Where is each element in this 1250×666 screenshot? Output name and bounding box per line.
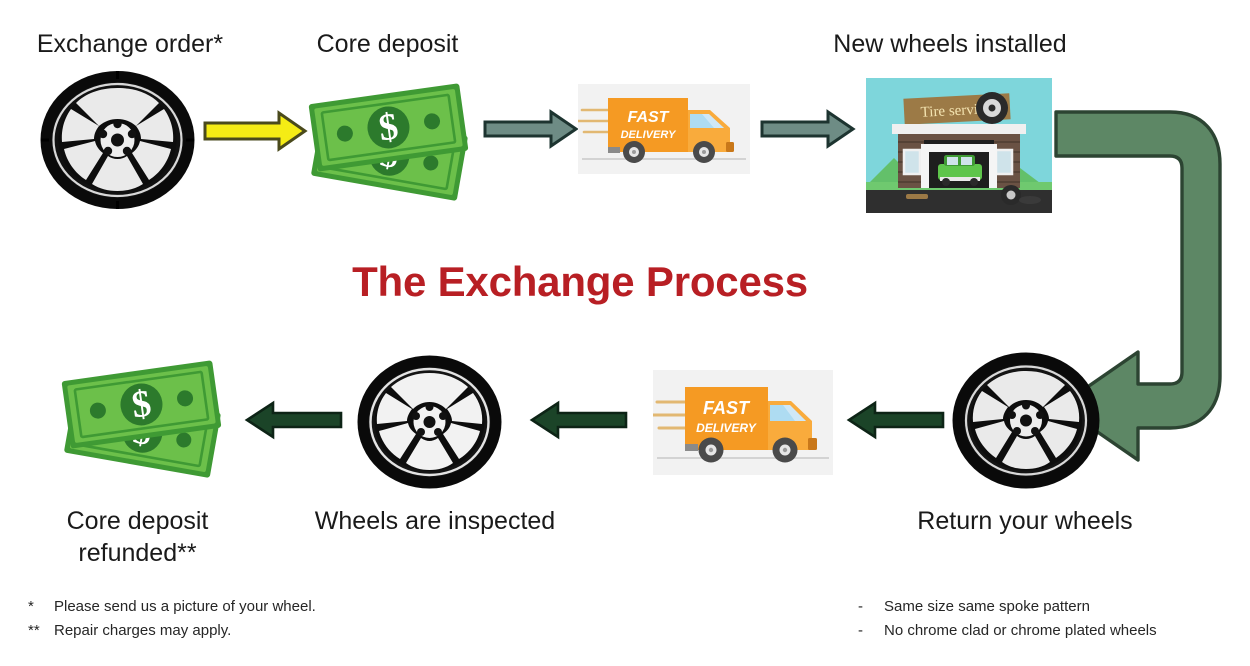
footnotes-left: * Please send us a picture of your wheel… <box>28 595 316 644</box>
wheel-icon-exchange-order <box>40 70 195 210</box>
arrow-3-right <box>760 108 856 150</box>
footnote-left-1: * Please send us a picture of your wheel… <box>28 595 316 619</box>
footnote-left-1-mark: * <box>28 595 54 619</box>
truck-text-delivery: DELIVERY <box>621 129 677 141</box>
footnote-left-2-text: Repair charges may apply. <box>54 619 231 643</box>
wheel-icon-return-your-wheels <box>952 352 1100 489</box>
delivery-truck-icon-shipping-back: FAST DELIVERY <box>653 370 833 475</box>
arrow-6-left <box>243 400 343 440</box>
footnote-right-2: - No chrome clad or chrome plated wheels <box>858 619 1157 643</box>
step-label-exchange-order: Exchange order* <box>0 28 260 60</box>
arrow-1-right <box>203 110 308 152</box>
footnotes-right: - Same size same spoke pattern - No chro… <box>858 595 1157 644</box>
step-label-core-deposit: Core deposit <box>285 28 490 60</box>
tire-service-shop-icon: Tire service <box>866 78 1052 218</box>
wheel-icon-wheels-are-inspected <box>357 355 502 489</box>
step-label-new-wheels-installed: New wheels installed <box>805 28 1095 60</box>
footnote-right-1-mark: - <box>858 595 884 619</box>
svg-text:DELIVERY: DELIVERY <box>696 421 757 435</box>
arrow-2-right <box>483 108 579 150</box>
footnote-right-2-mark: - <box>858 619 884 643</box>
footnote-left-2-mark: ** <box>28 619 54 643</box>
refund-label-line2: refunded** <box>78 539 196 567</box>
svg-text:FAST: FAST <box>703 398 751 418</box>
step-label-wheels-are-inspected: Wheels are inspected <box>290 505 580 537</box>
page-title: The Exchange Process <box>0 258 1160 306</box>
money-icon-core-deposit-refunded: $ $ <box>58 352 233 482</box>
footnote-right-2-text: No chrome clad or chrome plated wheels <box>884 619 1157 643</box>
refund-label-line1: Core deposit <box>67 507 209 535</box>
footnote-right-1: - Same size same spoke pattern <box>858 595 1157 619</box>
arrow-5-left <box>528 400 628 440</box>
footnote-left-2: ** Repair charges may apply. <box>28 619 316 643</box>
arrow-4-left <box>845 400 945 440</box>
delivery-truck-icon-shipping-out: FAST DELIVERY <box>578 84 750 174</box>
truck-text-fast: FAST <box>628 109 670 126</box>
step-label-core-deposit-refunded: Core deposit refunded** <box>20 505 255 569</box>
step-label-return-your-wheels: Return your wheels <box>880 505 1170 537</box>
exchange-process-diagram: Exchange order* Core deposit New wheels … <box>0 0 1250 666</box>
footnote-left-1-text: Please send us a picture of your wheel. <box>54 595 316 619</box>
money-icon-core-deposit: $ $ <box>305 75 480 205</box>
footnote-right-1-text: Same size same spoke pattern <box>884 595 1090 619</box>
